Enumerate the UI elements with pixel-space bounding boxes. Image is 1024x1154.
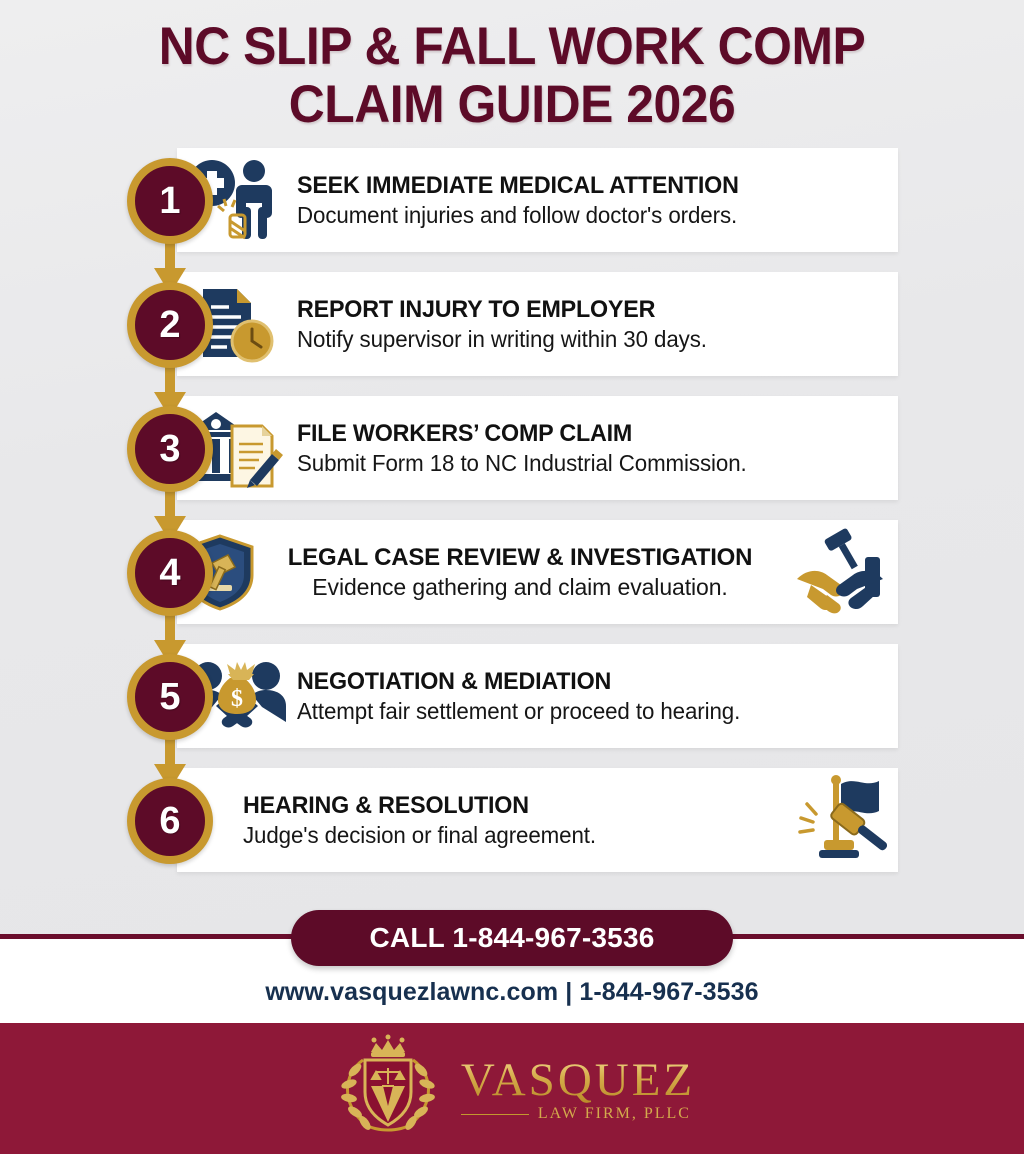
step-row: LEGAL CASE REVIEW & INVESTIGATION Eviden… (0, 520, 1024, 644)
step-row: SEEK IMMEDIATE MEDICAL ATTENTION Documen… (0, 148, 1024, 272)
call-cta-button[interactable]: CALL 1-844-967-3536 (291, 910, 733, 966)
step-text-5: NEGOTIATION & MEDIATION Attempt fair set… (297, 667, 898, 726)
step-card-6[interactable]: HEARING & RESOLUTION Judge's decision or… (177, 768, 898, 872)
step-text-3: FILE WORKERS’ COMP CLAIM Submit Form 18 … (297, 419, 898, 478)
svg-text:$: $ (231, 686, 243, 712)
step-text-1: SEEK IMMEDIATE MEDICAL ATTENTION Documen… (297, 171, 898, 230)
step-card-2[interactable]: REPORT INJURY TO EMPLOYER Notify supervi… (177, 272, 898, 376)
brand-subtitle-row: LAW FIRM, PLLC (461, 1105, 695, 1123)
step-description: Judge's decision or final agreement. (243, 820, 761, 850)
handshake-gavel-icon (783, 526, 898, 618)
step-badge-5: 5 (127, 654, 213, 740)
gavel-flag-icon (783, 774, 898, 866)
step-number: 4 (159, 554, 180, 592)
step-title: FILE WORKERS’ COMP CLAIM (297, 419, 874, 448)
step-badge-3: 3 (127, 406, 213, 492)
step-card-4[interactable]: LEGAL CASE REVIEW & INVESTIGATION Eviden… (177, 520, 898, 624)
step-description: Submit Form 18 to NC Industrial Commissi… (297, 448, 874, 478)
page-title: NC SLIP & FALL WORK COMP CLAIM GUIDE 202… (0, 18, 1024, 134)
step-title: LEGAL CASE REVIEW & INVESTIGATION (263, 543, 777, 572)
brand-subtitle: LAW FIRM, PLLC (538, 1105, 691, 1123)
step-text-4: LEGAL CASE REVIEW & INVESTIGATION Eviden… (263, 543, 783, 602)
step-number: 3 (159, 430, 180, 468)
page-title-line-2: CLAIM GUIDE 2026 (31, 76, 994, 134)
page-title-line-1: NC SLIP & FALL WORK COMP (31, 18, 994, 76)
step-title: NEGOTIATION & MEDIATION (297, 667, 874, 696)
vasquez-crest-logo (329, 1034, 447, 1143)
step-row: REPORT INJURY TO EMPLOYER Notify supervi… (0, 272, 1024, 396)
step-row: HEARING & RESOLUTION Judge's decision or… (0, 768, 1024, 892)
step-title: HEARING & RESOLUTION (243, 791, 761, 820)
step-badge-1: 1 (127, 158, 213, 244)
step-description: Notify supervisor in writing within 30 d… (297, 324, 874, 354)
step-text-2: REPORT INJURY TO EMPLOYER Notify supervi… (297, 295, 898, 354)
step-row: FILE WORKERS’ COMP CLAIM Submit Form 18 … (0, 396, 1024, 520)
infographic-page: NC SLIP & FALL WORK COMP CLAIM GUIDE 202… (0, 0, 1024, 1154)
step-number: 1 (159, 182, 180, 220)
step-text-6: HEARING & RESOLUTION Judge's decision or… (243, 791, 783, 850)
brand-logo[interactable]: VASQUEZ LAW FIRM, PLLC (329, 1034, 695, 1143)
step-number: 6 (159, 802, 180, 840)
brand-logo-text: VASQUEZ LAW FIRM, PLLC (461, 1056, 695, 1123)
step-title: REPORT INJURY TO EMPLOYER (297, 295, 874, 324)
brand-rule (461, 1114, 529, 1115)
brand-name: VASQUEZ (461, 1056, 695, 1104)
step-title: SEEK IMMEDIATE MEDICAL ATTENTION (297, 171, 874, 200)
step-card-3[interactable]: FILE WORKERS’ COMP CLAIM Submit Form 18 … (177, 396, 898, 500)
step-badge-2: 2 (127, 282, 213, 368)
contact-info-line[interactable]: www.vasquezlawnc.com | 1-844-967-3536 (0, 978, 1024, 1007)
step-card-1[interactable]: SEEK IMMEDIATE MEDICAL ATTENTION Documen… (177, 148, 898, 252)
step-number: 5 (159, 678, 180, 716)
steps-list: SEEK IMMEDIATE MEDICAL ATTENTION Documen… (0, 148, 1024, 892)
step-badge-6: 6 (127, 778, 213, 864)
step-card-5[interactable]: $ NEGOTIATION & MEDIATION Attempt fair s… (177, 644, 898, 748)
call-cta-label: CALL 1-844-967-3536 (370, 922, 655, 954)
step-description: Attempt fair settlement or proceed to he… (297, 696, 874, 726)
footer-bar: VASQUEZ LAW FIRM, PLLC (0, 1023, 1024, 1154)
step-row: $ NEGOTIATION & MEDIATION Attempt fair s… (0, 644, 1024, 768)
step-badge-4: 4 (127, 530, 213, 616)
step-number: 2 (159, 306, 180, 344)
step-description: Document injuries and follow doctor's or… (297, 200, 874, 230)
step-description: Evidence gathering and claim evaluation. (263, 572, 777, 602)
